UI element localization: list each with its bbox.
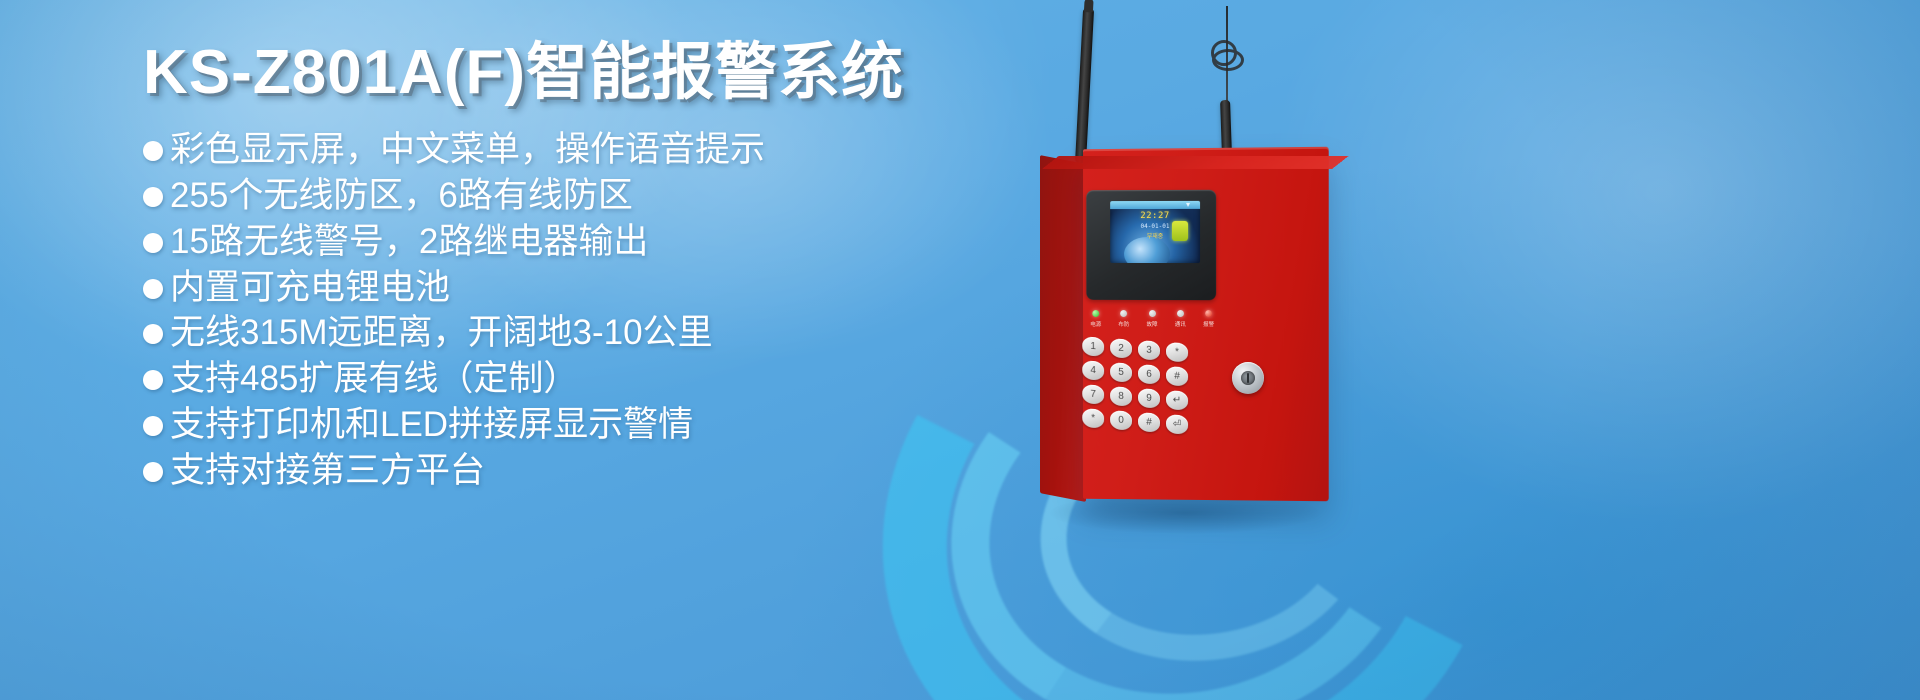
feature-text: 无线315M远距离，开阔地3-10公里 — [170, 310, 713, 356]
key-3[interactable]: 3 — [1138, 340, 1160, 361]
signal-icon — [1186, 203, 1190, 207]
feature-text: 255个无线防区，6路有线防区 — [170, 173, 633, 219]
antenna-tip — [1084, 0, 1094, 12]
feature-text: 彩色显示屏，中文菜单，操作语音提示 — [170, 127, 765, 173]
key-9[interactable]: 9 — [1138, 388, 1160, 409]
enclosure-side-panel — [1040, 155, 1086, 502]
led-label: 通讯 — [1175, 320, 1186, 328]
key-2[interactable]: 2 — [1110, 338, 1132, 358]
feature-text: 支持打印机和LED拼接屏显示警情 — [170, 402, 693, 448]
enclosure-top-face — [1042, 156, 1349, 169]
text-column: KS-Z801A(F)智能报警系统 彩色显示屏，中文菜单，操作语音提示 255个… — [143, 40, 1023, 494]
led-label: 电源 — [1090, 320, 1101, 328]
globe-graphic — [1124, 237, 1170, 263]
key-enter[interactable]: ⏎ — [1166, 414, 1188, 435]
key-star[interactable]: * — [1082, 408, 1104, 429]
page-title: KS-Z801A(F)智能报警系统 — [143, 40, 1023, 105]
list-item: 255个无线防区，6路有线防区 — [143, 173, 1023, 219]
key-1[interactable]: 1 — [1082, 336, 1104, 356]
list-item: 支持485扩展有线（定制） — [143, 356, 1023, 402]
antenna-coil-icon — [1211, 40, 1237, 66]
bullet-dot-icon — [143, 324, 163, 344]
bullet-dot-icon — [143, 233, 163, 253]
list-item: 支持打印机和LED拼接屏显示警情 — [143, 402, 1023, 448]
key-8[interactable]: 8 — [1110, 386, 1132, 407]
antenna-left — [1075, 8, 1094, 163]
key-hash[interactable]: # — [1138, 412, 1160, 433]
led-status-icon — [1120, 310, 1127, 317]
bullet-dot-icon — [143, 279, 163, 299]
led-power-icon — [1092, 310, 1099, 317]
key-0[interactable]: 0 — [1110, 410, 1132, 431]
bullet-dot-icon — [143, 416, 163, 436]
feature-text: 15路无线警号，2路继电器输出 — [170, 219, 648, 265]
feature-text: 支持485扩展有线（定制） — [170, 356, 578, 402]
indicator-led-labels: 电源 布防 故障 通讯 报警 — [1090, 320, 1214, 328]
led-label: 布防 — [1118, 320, 1129, 328]
key-star-top[interactable]: * — [1166, 342, 1188, 363]
lock-cylinder-icon[interactable] — [1232, 362, 1264, 394]
list-item: 无线315M远距离，开阔地3-10公里 — [143, 310, 1023, 356]
key-4[interactable]: 4 — [1082, 360, 1104, 380]
key-enter-top[interactable]: ↵ — [1166, 390, 1188, 411]
display-bezel: 22:27 04-01-01 부재중 — [1086, 190, 1216, 300]
key-6[interactable]: 6 — [1138, 364, 1160, 385]
feature-list: 彩色显示屏，中文菜单，操作语音提示 255个无线防区，6路有线防区 15路无线警… — [143, 127, 1023, 494]
lcd-screen[interactable]: 22:27 04-01-01 부재중 — [1110, 201, 1200, 263]
bullet-dot-icon — [143, 187, 163, 207]
lcd-clock: 22:27 — [1110, 211, 1200, 221]
indicator-led-row — [1092, 310, 1212, 317]
led-comm-icon — [1177, 310, 1184, 317]
lcd-date: 04-01-01 — [1110, 223, 1200, 230]
key-hash-top[interactable]: # — [1166, 366, 1188, 387]
list-item: 支持对接第三方平台 — [143, 448, 1023, 494]
feature-text: 支持对接第三方平台 — [170, 448, 485, 494]
bullet-dot-icon — [143, 370, 163, 390]
led-alarm-icon — [1205, 310, 1212, 317]
list-item: 15路无线警号，2路继电器输出 — [143, 219, 1023, 265]
list-item: 彩色显示屏，中文菜单，操作语音提示 — [143, 127, 1023, 173]
led-label: 故障 — [1146, 320, 1157, 328]
list-item: 内置可充电锂电池 — [143, 265, 1023, 311]
bullet-dot-icon — [143, 462, 163, 482]
feature-text: 内置可充电锂电池 — [170, 265, 450, 311]
lock-keyslot — [1247, 373, 1249, 383]
lcd-state: 부재중 — [1110, 231, 1200, 240]
promo-banner: KS-Z801A(F)智能报警系统 彩色显示屏，中文菜单，操作语音提示 255个… — [0, 0, 1920, 700]
keypad[interactable]: 1 2 3 * 4 5 6 # 7 8 9 ↵ * 0 # ⏎ — [1082, 336, 1192, 439]
bullet-dot-icon — [143, 141, 163, 161]
led-label: 报警 — [1203, 320, 1214, 328]
key-5[interactable]: 5 — [1110, 362, 1132, 383]
key-7[interactable]: 7 — [1082, 384, 1104, 404]
led-fault-icon — [1149, 310, 1156, 317]
lcd-status-bar — [1110, 201, 1200, 209]
alarm-control-panel: 22:27 04-01-01 부재중 电源 布防 故障 通讯 报警 1 2 3 … — [960, 0, 1460, 700]
